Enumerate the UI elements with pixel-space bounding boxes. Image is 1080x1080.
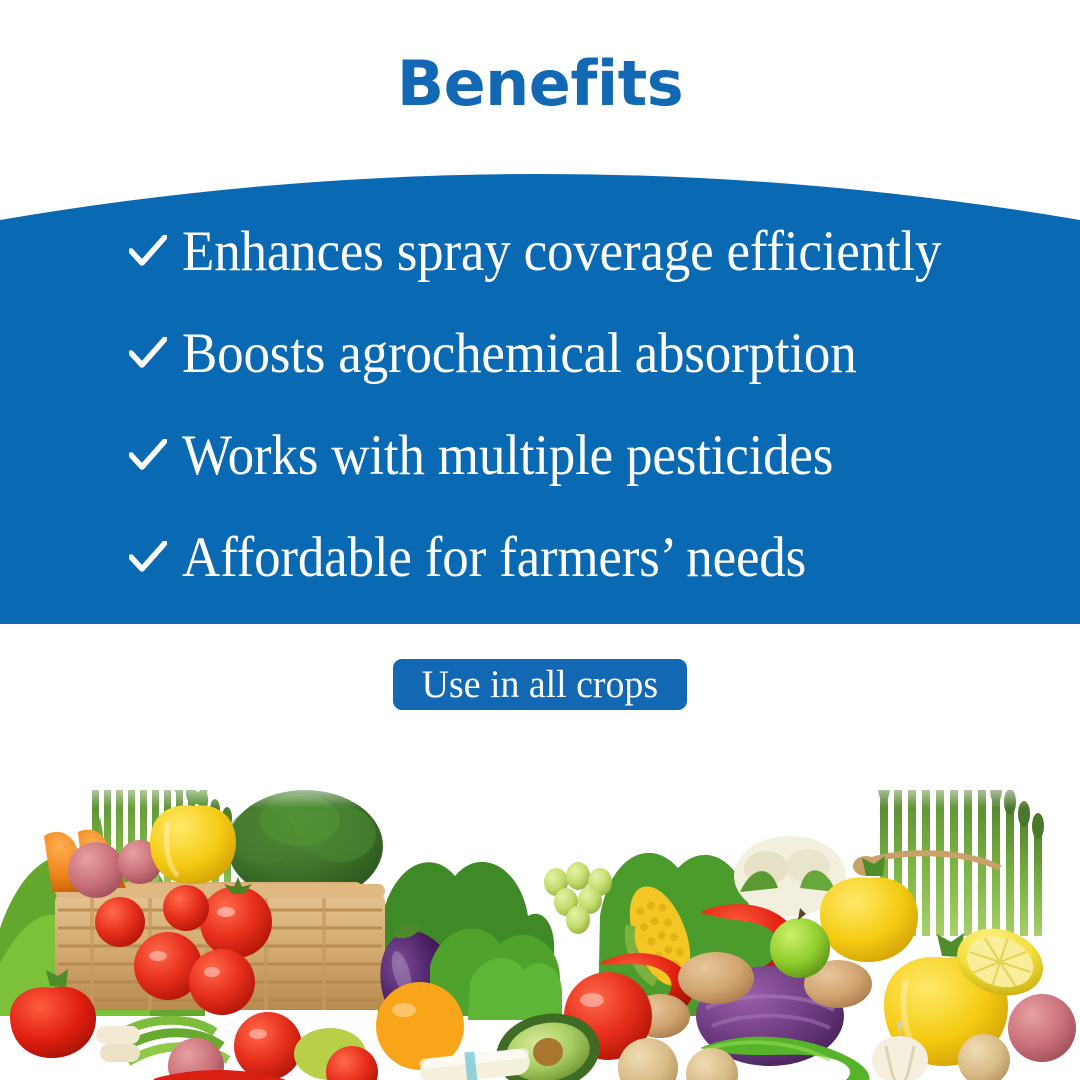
list-item: Works with multiple pesticides (128, 434, 882, 478)
benefit-label-1: Enhances spray coverage efficiently (182, 230, 941, 274)
list-item: Enhances spray coverage efficiently (128, 230, 998, 274)
page-title: Benefits (397, 53, 683, 115)
produce-illustration (0, 716, 1080, 1080)
check-icon (128, 434, 168, 478)
list-item: Boosts agrochemical absorption (128, 332, 907, 376)
page-title-area: Benefits (0, 0, 1080, 150)
use-in-all-crops-badge: Use in all crops (393, 659, 687, 710)
check-icon (128, 230, 168, 274)
badge-label: Use in all crops (422, 665, 658, 704)
produce-photo (0, 716, 1080, 1080)
check-icon (128, 536, 168, 580)
benefits-infographic: Benefits Enhances spray coverage efficie… (0, 0, 1080, 1080)
list-item: Affordable for farmers’ needs (128, 536, 853, 580)
check-icon (128, 332, 168, 376)
benefit-label-2: Boosts agrochemical absorption (182, 332, 857, 376)
benefit-label-4: Affordable for farmers’ needs (182, 536, 806, 580)
benefit-label-3: Works with multiple pesticides (182, 434, 833, 478)
benefits-list: Enhances spray coverage efficiently Boos… (0, 146, 1080, 624)
